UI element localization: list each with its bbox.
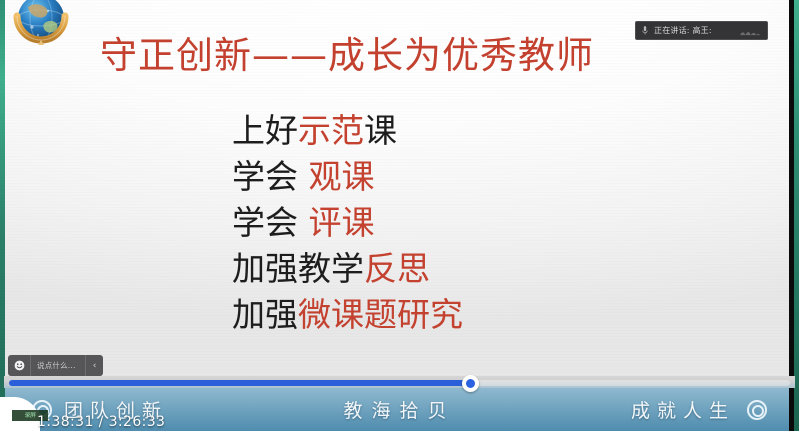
- bullet-accent-text: 观课: [309, 157, 375, 196]
- bullet-lead-text: 学会: [232, 157, 309, 196]
- bullet-lead-text: 加强: [232, 295, 298, 334]
- video-right-edge-strip: [794, 0, 799, 431]
- school-globe-emblem-icon: [10, 0, 72, 52]
- seek-progress-fill: [9, 380, 470, 386]
- target-ring-icon: [747, 400, 767, 420]
- banner-center-segment: 教海拾贝: [168, 396, 631, 423]
- microphone-icon: [642, 21, 648, 40]
- slide-bullet-line: 加强教学反思: [232, 246, 463, 292]
- presentation-slide: 守正创新——成长为优秀教师 上好示范课 学会 观课 学会 评课 加强教学反思 加…: [4, 0, 795, 376]
- banner-right-text: 成就人生: [631, 396, 735, 423]
- emoji-smiley-icon[interactable]: [8, 355, 31, 376]
- speaker-name-label: 正在讲话: 高王:: [654, 25, 733, 36]
- bullet-lead-text: 上好: [232, 111, 298, 150]
- bullet-accent-text: 示范: [298, 111, 364, 150]
- audio-wave-icon: [739, 21, 761, 40]
- video-left-edge-strip: [0, 0, 5, 431]
- slide-bullet-line: 加强微课题研究: [232, 292, 463, 338]
- bullet-tail-text: 课: [364, 111, 397, 150]
- slide-title: 守正创新——成长为优秀教师: [100, 34, 594, 78]
- bullet-lead-text: 加强教学: [232, 249, 364, 288]
- chat-input-bar[interactable]: 说点什么... ‹: [8, 355, 103, 376]
- slide-bullet-line: 学会 评课: [232, 200, 463, 246]
- chat-message-input[interactable]: 说点什么...: [31, 355, 86, 376]
- seek-handle[interactable]: [462, 375, 479, 392]
- banner-center-text: 教海拾贝: [343, 396, 455, 423]
- bullet-accent-text: 微课题研究: [298, 295, 463, 334]
- chevron-left-icon[interactable]: ‹: [86, 355, 103, 376]
- video-seek-bar[interactable]: [4, 376, 795, 388]
- screen-recording-player: 守正创新——成长为优秀教师 上好示范课 学会 观课 学会 评课 加强教学反思 加…: [0, 0, 799, 431]
- slide-bullet-line: 学会 观课: [232, 154, 463, 200]
- active-speaker-indicator: 正在讲话: 高王:: [635, 21, 768, 40]
- slide-body-text: 上好示范课 学会 观课 学会 评课 加强教学反思 加强微课题研究: [232, 108, 463, 338]
- banner-right-segment: 成就人生: [631, 396, 767, 423]
- slide-bullet-line: 上好示范课: [232, 108, 463, 154]
- playback-timestamp: 1:38:31 / 3:26:33: [37, 414, 165, 430]
- seek-track[interactable]: [9, 380, 790, 386]
- bullet-accent-text: 反思: [364, 249, 430, 288]
- bullet-lead-text: 学会: [232, 203, 309, 242]
- bullet-accent-text: 评课: [309, 203, 375, 242]
